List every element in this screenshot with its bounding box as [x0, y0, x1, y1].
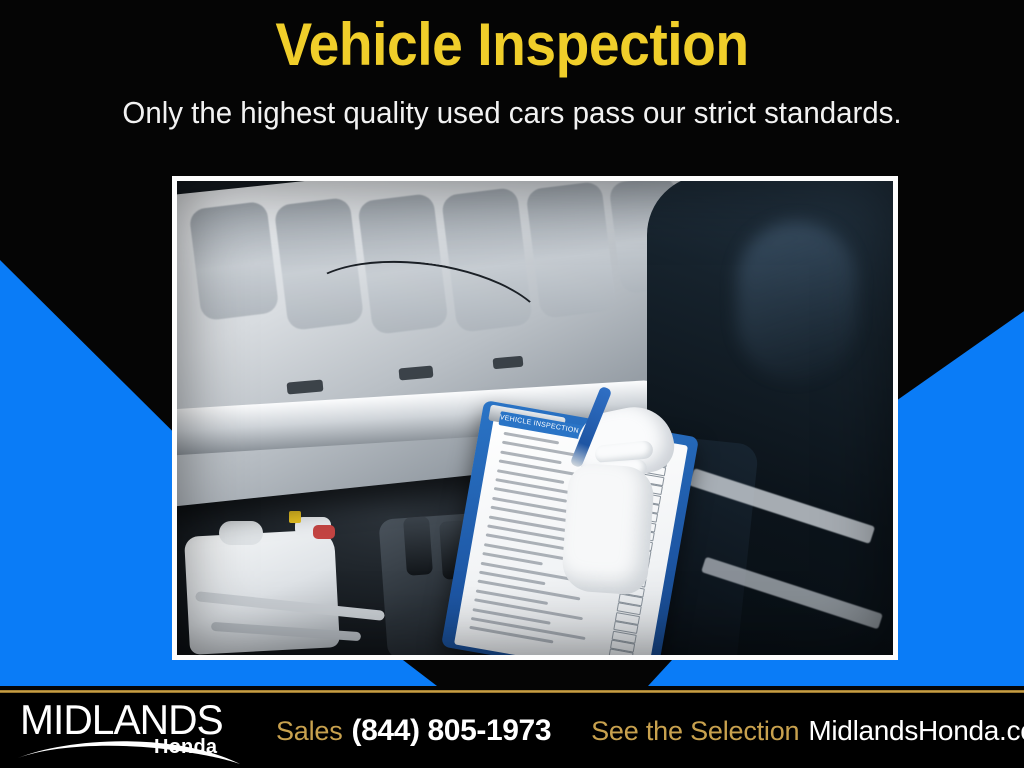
blue-band-right	[640, 660, 1024, 686]
page-title: Vehicle Inspection	[41, 14, 983, 76]
hero-photo-frame: VEHICLE INSPECTION CHECKLIST	[172, 176, 898, 660]
coverall-highlight	[737, 221, 857, 381]
hero-photo: VEHICLE INSPECTION CHECKLIST	[177, 181, 893, 655]
gloved-hand-lower	[561, 462, 656, 596]
footer-contact: Sales (844) 805-1973 See the Selection M…	[276, 714, 1024, 748]
hood-rib	[188, 201, 279, 322]
blue-band-left	[0, 660, 440, 686]
washer-fluid-cap	[219, 521, 263, 545]
ignition-coil	[403, 516, 433, 576]
website-link[interactable]: MidlandsHonda.com	[808, 715, 1024, 747]
sales-phone[interactable]: (844) 805-1973	[352, 714, 552, 748]
blue-wedge-left	[0, 260, 176, 686]
yellow-tab-icon	[289, 511, 301, 523]
sales-label: Sales	[276, 716, 343, 747]
footer-bar: MIDLANDS Honda Sales (844) 805-1973 See …	[0, 693, 1024, 768]
ad-banner: Vehicle Inspection Only the highest qual…	[0, 0, 1024, 768]
logo-swoosh-icon	[16, 740, 242, 766]
page-subtitle: Only the highest quality used cars pass …	[26, 96, 999, 130]
red-cap-icon	[313, 525, 335, 539]
selection-cta-label: See the Selection	[591, 716, 799, 747]
hood-rib	[525, 181, 616, 319]
dealer-logo[interactable]: MIDLANDS Honda	[14, 696, 250, 766]
